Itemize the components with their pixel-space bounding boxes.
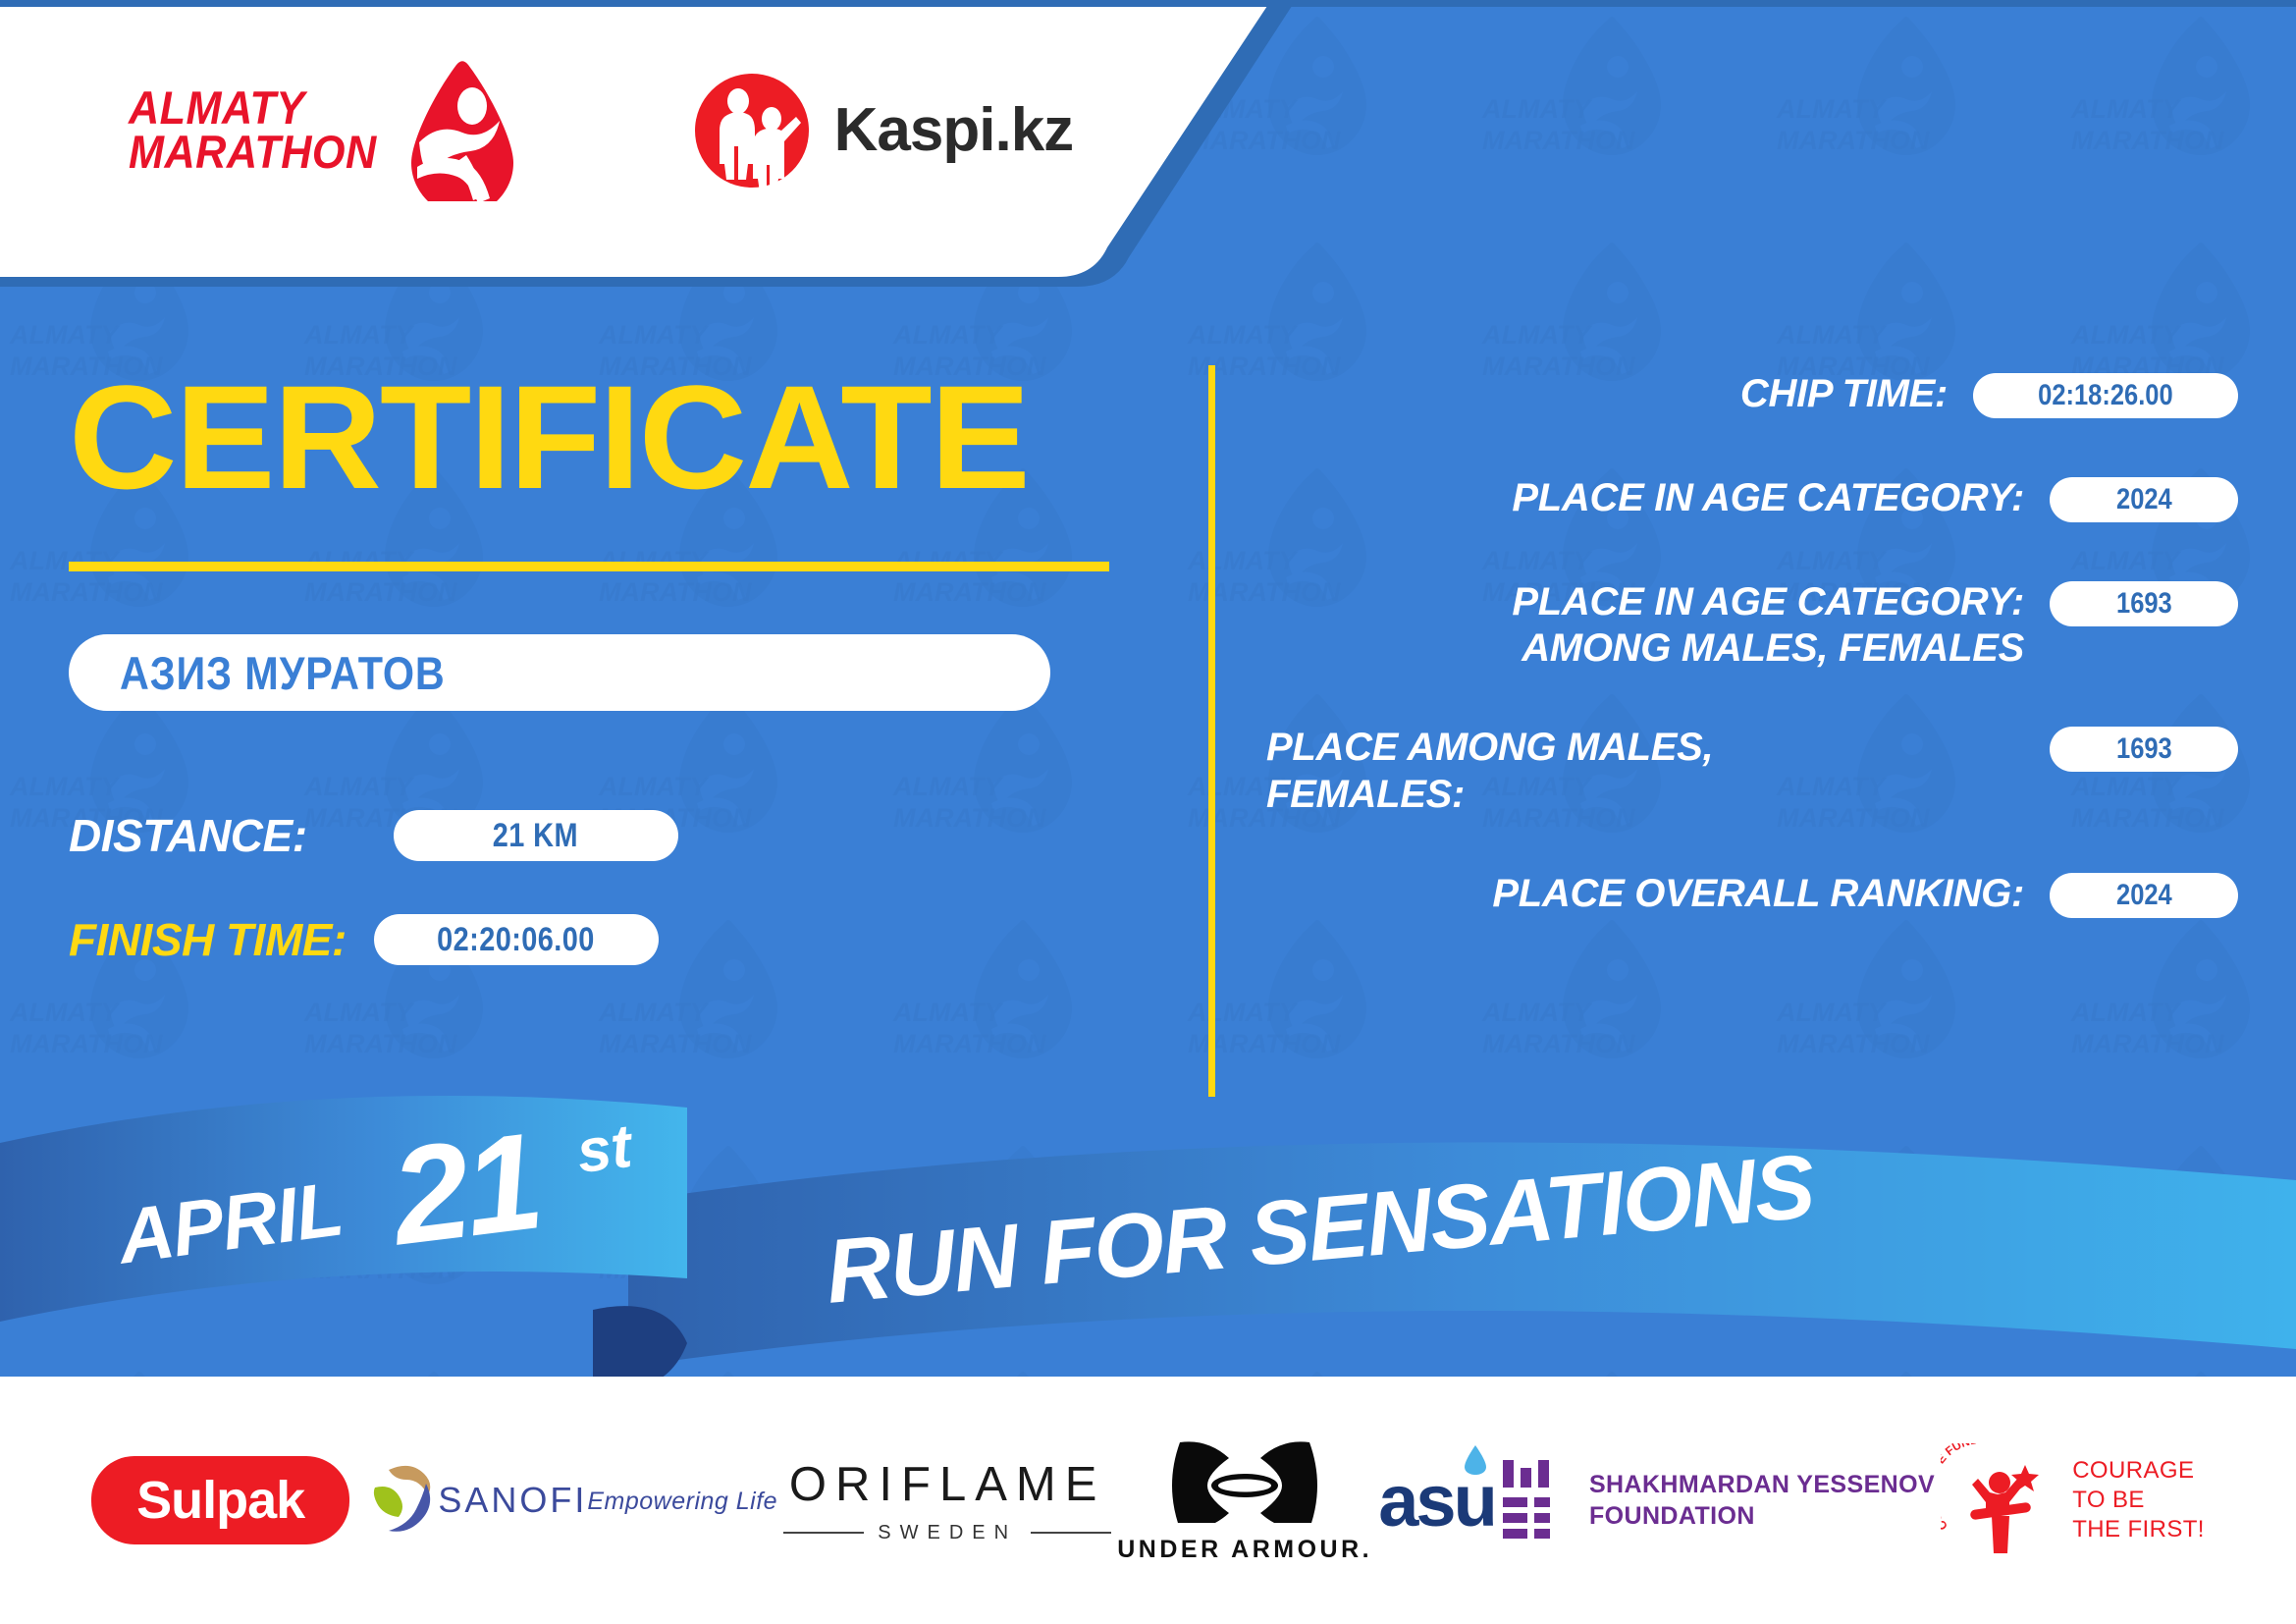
distance-value: 21 KM	[493, 817, 578, 855]
result-value: 1693	[2116, 587, 2172, 621]
sulpak-wordmark: Sulpak	[91, 1456, 349, 1544]
results-column: CHIP TIME:02:18:26.00PLACE IN AGE CATEGO…	[1266, 371, 2238, 975]
kaspi-people-icon	[693, 72, 811, 189]
oriflame-wordmark: ORIFLAME	[783, 1457, 1111, 1512]
result-label: PLACE OVERALL RANKING:	[1266, 871, 2024, 917]
sanofi-tagline: Empowering Life	[587, 1488, 777, 1516]
participant-name-value: АЗИЗ МУРАТОВ	[120, 646, 446, 700]
sponsor-under-armour: UNDER ARMOUR.	[1117, 1436, 1372, 1564]
left-column: CERTIFICATE АЗИЗ МУРАТОВ DISTANCE: 21 KM…	[69, 363, 1139, 966]
courage-line1: COURAGE	[2072, 1456, 2205, 1486]
courage-wordmark: COURAGE TO BE THE FIRST!	[2072, 1456, 2205, 1544]
oriflame-sweden: SWEDEN	[878, 1522, 1017, 1544]
result-label: PLACE IN AGE CATEGORY:	[1266, 475, 2024, 521]
sanofi-icon	[355, 1462, 438, 1533]
certificate-canvas: ALMATY MARATHON ALMATY MARATHON	[0, 0, 2296, 1624]
result-value-pill: 2024	[2050, 477, 2238, 522]
result-value-pill: 2024	[2050, 873, 2238, 918]
asu-wordmark: asu	[1378, 1459, 1495, 1543]
sanofi-wordmark: SANOFI	[438, 1480, 587, 1521]
brand-logo-row: ALMATY MARATHON	[118, 59, 1073, 201]
oriflame-rule-right	[1031, 1532, 1111, 1534]
marathon-line: MARATHON	[129, 131, 377, 175]
courage-line2: TO BE	[2072, 1486, 2205, 1515]
result-value-pill: 02:18:26.00	[1973, 373, 2238, 418]
top-border-rule	[0, 0, 2296, 7]
svg-text:CORPORATE FUND: CORPORATE FUND	[1941, 1443, 1980, 1533]
almaty-marathon-wordmark: ALMATY MARATHON	[129, 86, 377, 174]
page-title: CERTIFICATE	[69, 363, 1160, 511]
sponsor-bar: Sulpak SANOFI Empowering Life ORIFLAME S…	[0, 1377, 2296, 1624]
result-value: 1693	[2116, 732, 2172, 766]
result-value-pill: 1693	[2050, 581, 2238, 626]
courage-line3: THE FIRST!	[2072, 1515, 2205, 1544]
courage-fund-icon: CORPORATE FUND	[1941, 1443, 2055, 1557]
oriflame-sub: SWEDEN	[783, 1522, 1111, 1544]
under-armour-icon	[1172, 1436, 1317, 1523]
distance-value-pill: 21 KM	[394, 810, 678, 861]
sponsor-sulpak: Sulpak	[91, 1456, 349, 1544]
finish-time-value-pill: 02:20:06.00	[374, 914, 659, 965]
sponsor-courage-fund: CORPORATE FUND COURAGE TO BE THE FIRST!	[1941, 1443, 2205, 1557]
distance-row: DISTANCE: 21 KM	[69, 809, 1139, 862]
sponsor-sanofi: SANOFI Empowering Life	[355, 1462, 777, 1539]
under-armour-wordmark: UNDER ARMOUR.	[1117, 1536, 1372, 1564]
title-underline	[69, 562, 1109, 571]
ribbon-day: 21	[384, 1102, 547, 1277]
kaspi-logo: Kaspi.kz	[693, 72, 1074, 189]
yessenov-icon	[1501, 1460, 1564, 1541]
result-value: 02:18:26.00	[2038, 379, 2173, 412]
yessenov-line2: FOUNDATION	[1589, 1500, 1935, 1532]
result-row: PLACE OVERALL RANKING:2024	[1266, 871, 2238, 922]
finish-time-row: FINISH TIME: 02:20:06.00	[69, 913, 1139, 966]
result-row: PLACE IN AGE CATEGORY:AMONG MALES, FEMAL…	[1266, 579, 2238, 672]
oriflame-rule-left	[783, 1532, 864, 1534]
ribbon-ordinal: st	[573, 1111, 635, 1187]
result-value-pill: 1693	[2050, 727, 2238, 772]
result-row: PLACE AMONG MALES,FEMALES:1693	[1266, 725, 2238, 817]
distance-label: DISTANCE:	[69, 809, 307, 862]
column-divider	[1208, 365, 1215, 1097]
result-label: PLACE IN AGE CATEGORY:AMONG MALES, FEMAL…	[1266, 579, 2024, 672]
result-label: CHIP TIME:	[1266, 371, 1948, 417]
result-value: 2024	[2116, 879, 2172, 912]
participant-name-field: АЗИЗ МУРАТОВ	[69, 634, 1050, 711]
result-value: 2024	[2116, 483, 2172, 516]
result-label: PLACE AMONG MALES,FEMALES:	[1266, 725, 2024, 817]
result-row: PLACE IN AGE CATEGORY:2024	[1266, 475, 2238, 526]
sponsor-oriflame: ORIFLAME SWEDEN	[783, 1457, 1111, 1544]
result-row: CHIP TIME:02:18:26.00	[1266, 371, 2238, 422]
finish-time-label: FINISH TIME:	[69, 913, 347, 966]
sponsor-asu: asu	[1378, 1459, 1495, 1543]
yessenov-line1: SHAKHMARDAN YESSENOV	[1589, 1469, 1935, 1500]
almaty-line: ALMATY	[129, 86, 377, 131]
yessenov-wordmark: SHAKHMARDAN YESSENOV FOUNDATION	[1589, 1469, 1935, 1532]
finish-time-value: 02:20:06.00	[437, 921, 595, 959]
almaty-runner-icon	[394, 59, 526, 201]
almaty-marathon-logo: ALMATY MARATHON	[118, 59, 526, 201]
kaspi-wordmark: Kaspi.kz	[834, 95, 1074, 165]
sponsor-yessenov-foundation: SHAKHMARDAN YESSENOV FOUNDATION	[1501, 1460, 1935, 1541]
